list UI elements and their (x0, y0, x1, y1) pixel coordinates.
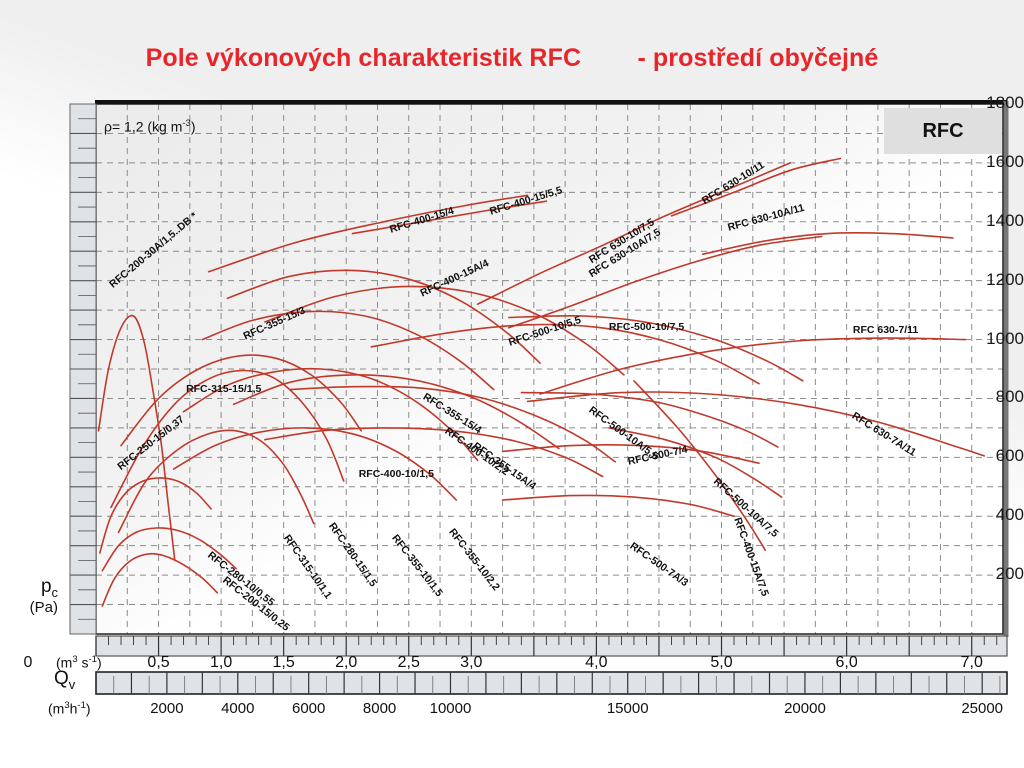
q-axis-title: Qv (54, 668, 75, 692)
curve-label: RFC 630-7/11 (853, 324, 918, 336)
y-axis-tick-label: 400 (966, 505, 1024, 525)
q-axis-tick-label: 4000 (198, 700, 278, 717)
q-axis-tick-label: 2000 (127, 700, 207, 717)
x-axis-tick-label: 1,5 (254, 654, 314, 672)
x-axis-tick-label: 2,0 (316, 654, 376, 672)
x-axis-tick-label: 5,0 (692, 654, 752, 672)
y-axis-tick-label: 1400 (966, 211, 1024, 231)
x-axis-tick-label: 7,0 (942, 654, 1002, 672)
y-axis-zero-label: 0 (8, 654, 48, 672)
x-axis-tick-label: 3,0 (441, 654, 501, 672)
q-axis-band (96, 672, 1007, 694)
y-axis-tick-label: 200 (966, 564, 1024, 584)
y-axis-tick-label: 1600 (966, 152, 1024, 172)
q-axis-tick-label: 25000 (942, 700, 1022, 717)
y-axis-unit: (Pa) (0, 599, 58, 616)
q-axis-tick-label: 10000 (410, 700, 490, 717)
x-axis-tick-label: 1,0 (191, 654, 251, 672)
curve-label: RFC-500-10/7,5 (609, 321, 684, 333)
x-axis-tick-label: 4,0 (566, 654, 626, 672)
x-axis-tick-label: 2,5 (379, 654, 439, 672)
q-axis-unit: (m3h-1) (48, 700, 91, 717)
chart-canvas (0, 0, 1024, 768)
x-axis-tick-label: 6,0 (817, 654, 877, 672)
rfc-badge: RFC (884, 108, 1002, 154)
y-axis-tick-label: 1200 (966, 270, 1024, 290)
y-axis-title: pc (0, 576, 58, 600)
curve-label: RFC-315-15/1,5 (186, 383, 261, 395)
x-axis-tick-label: 0,5 (129, 654, 189, 672)
x-axis-band (96, 636, 1007, 656)
y-axis-tick-label: 1000 (966, 329, 1024, 349)
fan-performance-chart: 18001600140012001000800600400200pc(Pa)0(… (0, 0, 1024, 768)
q-axis-tick-label: 15000 (588, 700, 668, 717)
density-annotation: ρ= 1,2 (kg m-3) (104, 118, 196, 135)
curve-label: RFC-400-10/1,5 (359, 468, 434, 480)
q-axis-tick-label: 8000 (340, 700, 420, 717)
y-axis-tick-label: 600 (966, 446, 1024, 466)
q-axis-tick-label: 6000 (269, 700, 349, 717)
page-title: Pole výkonových charakteristik RFC - pro… (0, 44, 1024, 73)
y-axis-tick-label: 800 (966, 387, 1024, 407)
q-axis-tick-label: 20000 (765, 700, 845, 717)
